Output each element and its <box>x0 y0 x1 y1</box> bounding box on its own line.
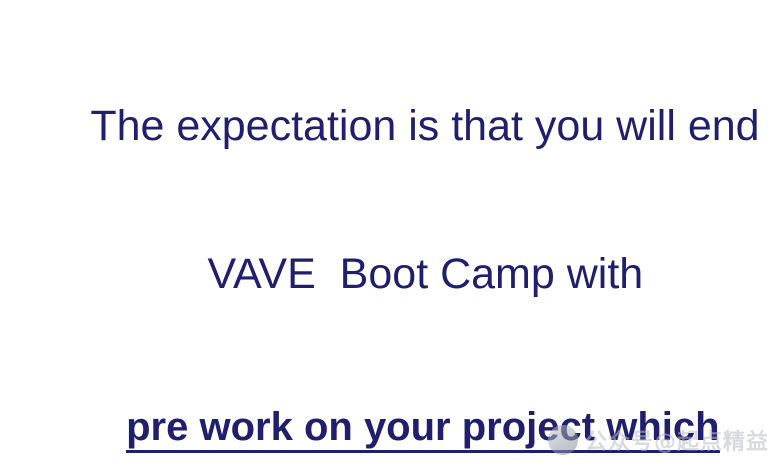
slide-line-2-text: VAVE Boot Camp with <box>207 250 643 298</box>
slide-line-1: The expectation is that you will end <box>0 62 779 191</box>
slide-line-3-emphasis: pre work on your project which <box>0 367 779 476</box>
slide-line-2: VAVE Boot Camp with <box>0 210 779 339</box>
slide-canvas: The expectation is that you will end VAV… <box>0 0 779 476</box>
slide-line-1-text: The expectation is that you will end <box>90 102 759 150</box>
slide-text-block: The expectation is that you will end VAV… <box>0 62 779 476</box>
slide-line-3-text: pre work on your project which <box>126 407 719 453</box>
